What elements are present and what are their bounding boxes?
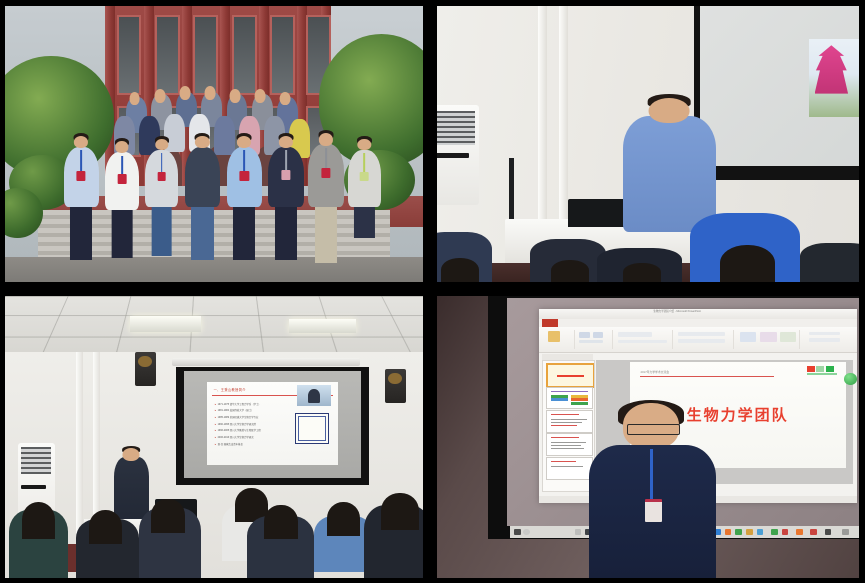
wall-pillar-left — [538, 6, 547, 221]
ceiling-light-1 — [130, 316, 201, 331]
slide-bullet-4: 1990-1995 四川大学生物力学研究所 — [215, 422, 256, 426]
app-icon-15 — [746, 529, 753, 535]
audience-silhouettes — [437, 210, 859, 282]
front-person-1 — [64, 147, 100, 208]
front-person-7 — [308, 144, 344, 207]
wall-speaker-right — [385, 369, 407, 403]
ac-display-panel — [437, 153, 469, 158]
projection-screen-frame — [694, 6, 859, 180]
presenter-name-badge — [645, 499, 663, 521]
slide-thumbnail-5[interactable] — [546, 457, 593, 480]
presenter-person — [589, 403, 716, 578]
app-icon-21 — [825, 529, 832, 535]
slide-title: 一、王秉山教授简介 — [214, 387, 246, 392]
ribbon-group-editing — [806, 330, 850, 349]
screen-slide-photo — [809, 39, 859, 117]
logo-letter-b — [807, 366, 815, 371]
front-person-6 — [268, 147, 304, 208]
ribbon-group-font — [615, 330, 673, 349]
app-icon-18 — [782, 529, 789, 535]
ceiling-light-2 — [289, 319, 356, 333]
speaker-photo-image — [437, 6, 859, 282]
taskview-icon — [575, 529, 582, 535]
slide-certificate-image — [295, 413, 328, 443]
ac-vent-grille — [437, 111, 475, 145]
projection-screen-frame: 一、王秉山教授简介 1971-1975 清华大学工程力学系（学士） 1981-1… — [176, 367, 368, 485]
slide-thumbnail-4[interactable] — [546, 433, 593, 456]
logo-letter-m — [816, 366, 824, 371]
slide-bullet-3: 1985-1989 美国哈佛大学生物力学专业 — [215, 415, 259, 419]
front-person-5 — [227, 147, 263, 208]
classroom-photo-image: 一、王秉山教授简介 1971-1975 清华大学工程力学系（学士） 1981-1… — [5, 296, 423, 578]
slide-thumbnail-3[interactable] — [546, 410, 593, 433]
slide-bullet-5: 1996-2005 四川大学教授与生物医学工程 — [215, 428, 261, 432]
ceiling-tile-grid — [5, 296, 423, 360]
screen-roller-housing — [172, 358, 360, 366]
slide-bullet-1: 1971-1975 清华大学工程力学系（学士） — [215, 402, 261, 406]
ground-pavement — [5, 257, 423, 282]
presenter-lanyard — [650, 449, 653, 501]
ribbon-tab-strip[interactable] — [539, 319, 857, 327]
wall-speaker-left — [135, 352, 157, 386]
slide-header-rule — [640, 376, 774, 377]
ceiling-tiles — [5, 296, 423, 355]
ribbon-toolbar[interactable] — [539, 327, 857, 353]
logo-caption — [807, 373, 837, 375]
slide-bullet-6: 2006-2016 四川大学生物力学研究 — [215, 435, 254, 439]
wall-pillar-right — [559, 6, 568, 221]
eyeglasses-icon — [627, 424, 680, 435]
app-icon-14 — [735, 529, 742, 535]
ac-vent-grille — [21, 447, 50, 474]
slide-bullet-2: 1981-1984 英国剑桥大学（硕士） — [215, 408, 254, 412]
logo-letter-e — [826, 366, 834, 371]
file-tab[interactable] — [542, 319, 558, 327]
search-icon — [523, 529, 530, 535]
front-person-8 — [348, 150, 381, 208]
slide-thumbnail-panel[interactable] — [542, 360, 595, 492]
panel-top-left-group-photo — [0, 0, 433, 292]
window-title: 生物力学团队介绍 - Microsoft PowerPoint — [653, 309, 701, 313]
panel-bottom-left-classroom: 一、王秉山教授简介 1971-1975 清华大学工程力学系（学士） 1981-1… — [0, 292, 433, 583]
app-icon-16 — [757, 529, 764, 535]
slide-header-text: 2017年力学学术交流会 — [640, 370, 669, 374]
start-button-icon — [514, 529, 521, 535]
app-icon-19 — [796, 529, 803, 535]
slide-bullet-7: 现 任 国家杰出青年基金 — [215, 442, 243, 446]
ribbon-group-clipboard — [545, 330, 575, 349]
ribbon-group-paragraph — [676, 330, 734, 349]
front-person-3 — [145, 150, 178, 208]
air-conditioner-unit — [437, 105, 479, 204]
ribbon-group-slides — [577, 330, 613, 349]
app-icon-17 — [771, 529, 778, 535]
projected-slide: 一、王秉山教授简介 1971-1975 清华大学工程力学系（学士） 1981-1… — [207, 382, 338, 465]
presenter-green-button-icon[interactable] — [844, 373, 857, 385]
slide-thumbnail-2[interactable] — [546, 387, 593, 410]
front-person-4 — [185, 147, 221, 208]
projection-screen-surface — [700, 6, 860, 166]
wall-column-left — [76, 352, 83, 544]
projection-screen-surface: 一、王秉山教授简介 1971-1975 清华大学工程力学系（学士） 1981-1… — [184, 371, 361, 478]
presenter-person — [114, 457, 150, 522]
slide-portrait-photo — [297, 385, 331, 406]
group-photo-image — [5, 6, 423, 282]
ppt-presentation-photo-image: 生物力学团队介绍 - Microsoft PowerPoint — [437, 296, 859, 578]
app-icon-20 — [810, 529, 817, 535]
window-titlebar: 生物力学团队介绍 - Microsoft PowerPoint — [539, 309, 857, 319]
app-icon-13 — [725, 529, 732, 535]
system-tray-icon — [842, 529, 849, 535]
bme-logo — [807, 366, 837, 374]
pagoda-building-icon — [815, 45, 848, 93]
panel-bottom-right-ppt: 生物力学团队介绍 - Microsoft PowerPoint — [433, 292, 865, 583]
photo-collage: 一、王秉山教授简介 1971-1975 清华大学工程力学系（学士） 1981-1… — [0, 0, 865, 583]
slide-thumbnail-1[interactable] — [546, 363, 595, 388]
front-person-2 — [105, 152, 138, 210]
panel-top-right-speaker — [433, 0, 865, 292]
ac-display-panel — [21, 485, 46, 489]
ribbon-group-drawing — [736, 330, 801, 349]
